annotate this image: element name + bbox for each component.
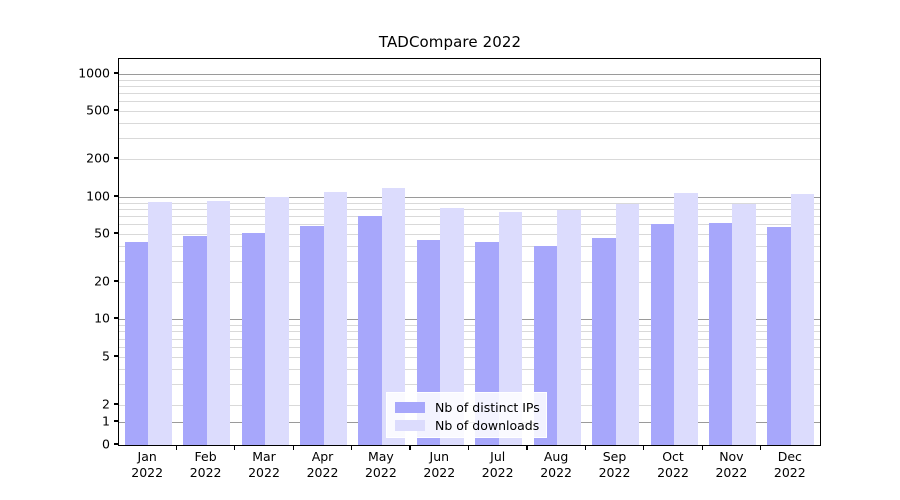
gridline-minor [119,138,820,139]
gridline-minor [119,111,820,112]
x-axis-tick-mark [760,445,761,450]
x-axis-tick-label: Jan2022 [131,449,163,481]
y-axis-tick-label: 5 [64,349,110,364]
x-axis-tick-month: Jun [423,449,455,465]
plot-inner [119,59,820,445]
x-axis-tick-mark [526,445,527,450]
bar-distinct-ips [592,238,616,445]
bar-downloads [732,204,756,445]
x-axis-tick-year: 2022 [599,465,631,481]
x-axis-tick-mark [176,445,177,450]
x-axis-tick-label: Jun2022 [423,449,455,481]
bar-distinct-ips [709,223,733,446]
x-axis-tick-label: May2022 [365,449,397,481]
bar-downloads [265,197,289,446]
y-axis-tick-label: 500 [64,103,110,118]
x-axis-tick-mark [585,445,586,450]
x-axis-tick-year: 2022 [190,465,222,481]
x-axis-tick-label: Sep2022 [599,449,631,481]
bar-downloads [674,193,698,445]
x-axis-tick-label: Feb2022 [190,449,222,481]
x-axis-tick-month: Feb [190,449,222,465]
bar-downloads [324,192,348,445]
x-axis-tick-mark [409,445,410,450]
y-axis: 01251020501002005001000 [58,58,110,444]
bar-downloads [791,194,815,445]
x-axis-tick-mark [351,445,352,450]
x-axis-tick-mark [468,445,469,450]
y-axis-tick-label: 1 [64,414,110,429]
x-axis-tick-label: Aug2022 [540,449,572,481]
x-axis-tick-month: Oct [657,449,689,465]
x-axis-tick-year: 2022 [715,465,747,481]
x-axis-tick-year: 2022 [365,465,397,481]
x-axis-tick-year: 2022 [307,465,339,481]
x-axis-tick-label: Nov2022 [715,449,747,481]
x-axis-tick-month: Mar [248,449,280,465]
y-axis-tick-label: 100 [64,189,110,204]
bar-distinct-ips [651,224,675,445]
x-axis-tick-year: 2022 [423,465,455,481]
y-axis-tick-label: 0 [64,437,110,452]
bar-distinct-ips [300,226,324,445]
legend-item-distinct-ips: Nb of distinct IPs [395,398,538,416]
x-axis-tick-month: Apr [307,449,339,465]
x-axis-tick-month: Aug [540,449,572,465]
bar-downloads [557,210,581,445]
x-axis-tick-label: Mar2022 [248,449,280,481]
x-axis-tick-label: Apr2022 [307,449,339,481]
bar-distinct-ips [183,236,207,445]
x-axis-tick-mark [293,445,294,450]
x-axis-tick-mark [702,445,703,450]
bar-distinct-ips [125,242,149,445]
chart-legend: Nb of distinct IPs Nb of downloads [386,392,547,438]
x-axis-tick-month: May [365,449,397,465]
x-axis: Jan2022Feb2022Mar2022Apr2022May2022Jun20… [118,449,819,494]
x-axis-tick-label: Jul2022 [482,449,514,481]
gridline-minor [119,86,820,87]
chart-title: TADCompare 2022 [0,33,900,51]
gridline-minor [119,123,820,124]
x-axis-tick-month: Nov [715,449,747,465]
x-axis-tick-year: 2022 [248,465,280,481]
y-axis-tick-label: 50 [64,226,110,241]
y-axis-tick-label: 2 [64,397,110,412]
x-axis-tick-mark [234,445,235,450]
x-axis-tick-month: Sep [599,449,631,465]
legend-label-downloads: Nb of downloads [435,418,539,433]
y-axis-tick-label: 10 [64,311,110,326]
x-axis-tick-year: 2022 [131,465,163,481]
bar-distinct-ips [242,233,266,445]
x-axis-tick-month: Dec [774,449,806,465]
y-axis-tick-label: 20 [64,274,110,289]
legend-swatch-distinct-ips [395,402,425,413]
gridline-minor [119,93,820,94]
x-axis-tick-year: 2022 [657,465,689,481]
x-axis-tick-mark [643,445,644,450]
bar-downloads [207,201,231,445]
gridline-major [119,197,820,198]
x-axis-tick-label: Oct2022 [657,449,689,481]
x-axis-tick-month: Jan [131,449,163,465]
x-axis-tick-year: 2022 [482,465,514,481]
x-axis-tick-label: Dec2022 [774,449,806,481]
chart-figure: TADCompare 2022 01251020501002005001000 … [0,0,900,500]
legend-label-distinct-ips: Nb of distinct IPs [435,400,540,415]
x-axis-tick-month: Jul [482,449,514,465]
plot-area [118,58,821,446]
gridline-minor [119,101,820,102]
x-axis-tick-year: 2022 [774,465,806,481]
bar-downloads [616,204,640,445]
bar-distinct-ips [358,216,382,445]
x-axis-tick-year: 2022 [540,465,572,481]
legend-swatch-downloads [395,420,425,431]
bar-downloads [148,202,172,445]
y-axis-tick-label: 1000 [64,66,110,81]
gridline-minor [119,159,820,160]
bar-distinct-ips [767,227,791,445]
y-axis-tick-label: 200 [64,151,110,166]
gridline-minor [119,80,820,81]
legend-item-downloads: Nb of downloads [395,416,538,434]
gridline-major [119,74,820,75]
